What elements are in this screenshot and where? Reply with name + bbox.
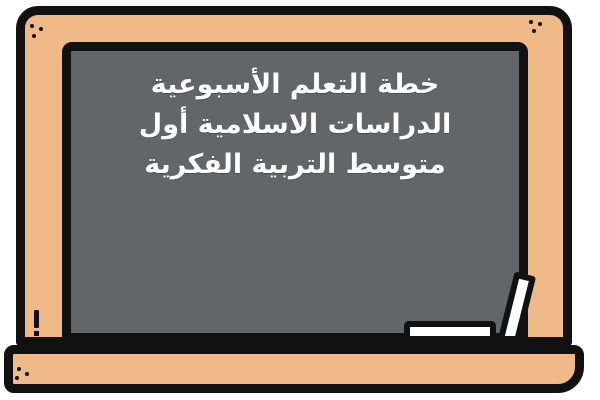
chalkboard-illustration: خطة التعلم الأسبوعية الدراسات الاسلامية … — [0, 0, 600, 400]
dot-2 — [39, 27, 43, 31]
board-title-text: خطة التعلم الأسبوعية الدراسات الاسلامية … — [71, 65, 519, 185]
tick-dot — [34, 331, 39, 336]
dot-3 — [532, 29, 536, 33]
decorative-dots-top-left — [30, 24, 56, 46]
frame-tick-mark — [34, 310, 39, 336]
decorative-dots-bottom-left — [14, 367, 40, 389]
title-line-2: الدراسات الاسلامية أول — [83, 105, 507, 145]
blackboard-surface: خطة التعلم الأسبوعية الدراسات الاسلامية … — [62, 42, 528, 342]
dot-1 — [529, 20, 533, 24]
tick-stem — [34, 310, 39, 328]
dot-2 — [25, 372, 29, 376]
dot-3 — [15, 376, 19, 380]
dot-1 — [17, 367, 21, 371]
dot-1 — [30, 24, 34, 28]
chalk-tray — [4, 345, 584, 393]
title-line-3: متوسط التربية الفكرية — [83, 145, 507, 185]
dot-3 — [32, 34, 36, 38]
decorative-dots-top-right — [527, 20, 553, 42]
dot-2 — [538, 22, 542, 26]
title-line-1: خطة التعلم الأسبوعية — [83, 65, 507, 105]
